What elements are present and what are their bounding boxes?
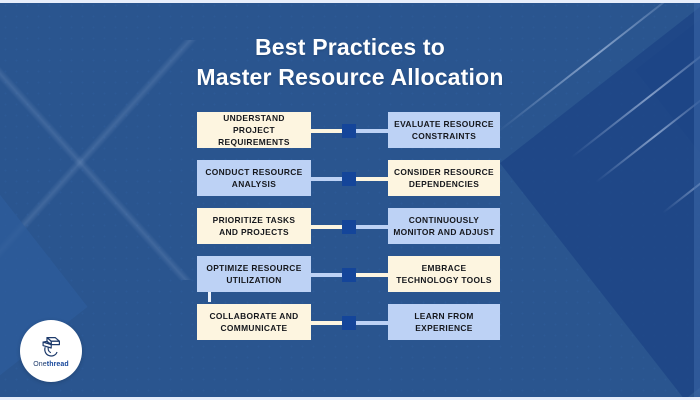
- practice-box-left[interactable]: PRIORITIZE TASKS AND PROJECTS: [197, 208, 311, 244]
- ribbon-knot-icon: [38, 335, 64, 360]
- best-practices-diagram: UNDERSTAND PROJECT REQUIREMENTSEVALUATE …: [0, 112, 700, 352]
- title-line-1: Best Practices to: [0, 32, 700, 62]
- practice-box-right[interactable]: EMBRACE TECHNOLOGY TOOLS: [388, 256, 500, 292]
- practice-box-right[interactable]: CONTINUOUSLY MONITOR AND ADJUST: [388, 208, 500, 244]
- row-connector: [311, 304, 388, 340]
- connector-bar-right: [356, 177, 388, 181]
- title-line-2: Master Resource Allocation: [0, 62, 700, 92]
- row-connector: [311, 160, 388, 196]
- row-connector: [311, 256, 388, 292]
- practice-box-right[interactable]: CONSIDER RESOURCE DEPENDENCIES: [388, 160, 500, 196]
- connector-bar-right: [356, 129, 388, 133]
- connector-knot: [342, 316, 356, 330]
- infographic-canvas: Best Practices to Master Resource Alloca…: [0, 0, 700, 400]
- practice-box-left[interactable]: UNDERSTAND PROJECT REQUIREMENTS: [197, 112, 311, 148]
- tick-marker: [208, 292, 211, 302]
- connector-bar-left: [311, 225, 343, 229]
- practice-box-left[interactable]: COLLABORATE AND COMMUNICATE: [197, 304, 311, 340]
- page-title: Best Practices to Master Resource Alloca…: [0, 32, 700, 93]
- connector-bar-right: [356, 273, 388, 277]
- diagram-row: OPTIMIZE RESOURCE UTILIZATIONEMBRACE TEC…: [0, 256, 700, 292]
- connector-bar-left: [311, 129, 343, 133]
- top-border-strip: [0, 0, 700, 3]
- logo-word-one: One: [33, 361, 47, 368]
- onethread-logo: Onethread: [20, 320, 82, 382]
- practice-box-left[interactable]: OPTIMIZE RESOURCE UTILIZATION: [197, 256, 311, 292]
- diagram-row: PRIORITIZE TASKS AND PROJECTSCONTINUOUSL…: [0, 208, 700, 244]
- connector-bar-left: [311, 177, 343, 181]
- connector-knot: [342, 220, 356, 234]
- connector-knot: [342, 172, 356, 186]
- practice-box-right[interactable]: LEARN FROM EXPERIENCE: [388, 304, 500, 340]
- connector-knot: [342, 268, 356, 282]
- logo-word-thread: thread: [47, 361, 69, 368]
- row-connector: [311, 112, 388, 148]
- practice-box-right[interactable]: EVALUATE RESOURCE CONSTRAINTS: [388, 112, 500, 148]
- diagram-row: UNDERSTAND PROJECT REQUIREMENTSEVALUATE …: [0, 112, 700, 148]
- logo-wordmark: Onethread: [33, 361, 69, 368]
- row-connector: [311, 208, 388, 244]
- diagram-row: CONDUCT RESOURCE ANALYSISCONSIDER RESOUR…: [0, 160, 700, 196]
- connector-bar-left: [311, 273, 343, 277]
- diagram-row: COLLABORATE AND COMMUNICATELEARN FROM EX…: [0, 304, 700, 340]
- connector-bar-right: [356, 225, 388, 229]
- connector-knot: [342, 124, 356, 138]
- connector-bar-right: [356, 321, 388, 325]
- connector-bar-left: [311, 321, 343, 325]
- practice-box-left[interactable]: CONDUCT RESOURCE ANALYSIS: [197, 160, 311, 196]
